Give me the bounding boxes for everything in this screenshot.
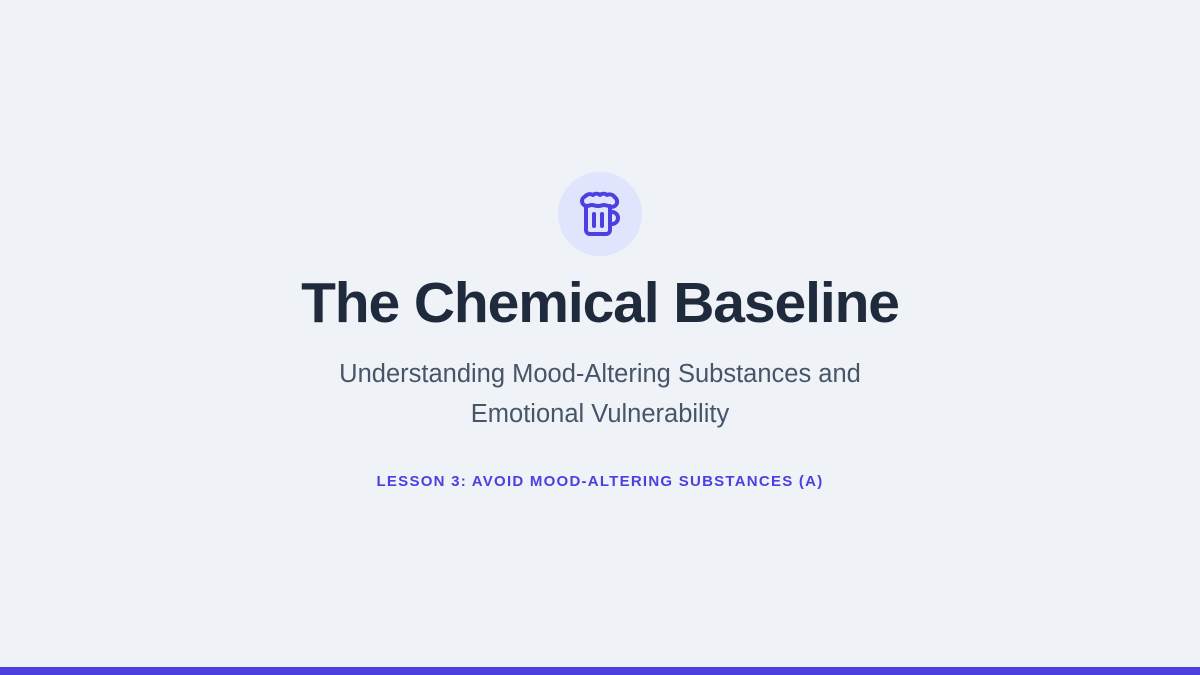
beer-mug-icon [576,190,624,238]
page-title: The Chemical Baseline [0,272,1200,336]
title-slide: The Chemical Baseline Understanding Mood… [0,0,1200,675]
lesson-label: LESSON 3: AVOID MOOD-ALTERING SUBSTANCES… [0,473,1200,490]
page-subtitle: Understanding Mood-Altering Substances a… [300,354,900,434]
bottom-accent-bar [0,667,1200,675]
beer-mug-icon-badge [558,172,642,256]
